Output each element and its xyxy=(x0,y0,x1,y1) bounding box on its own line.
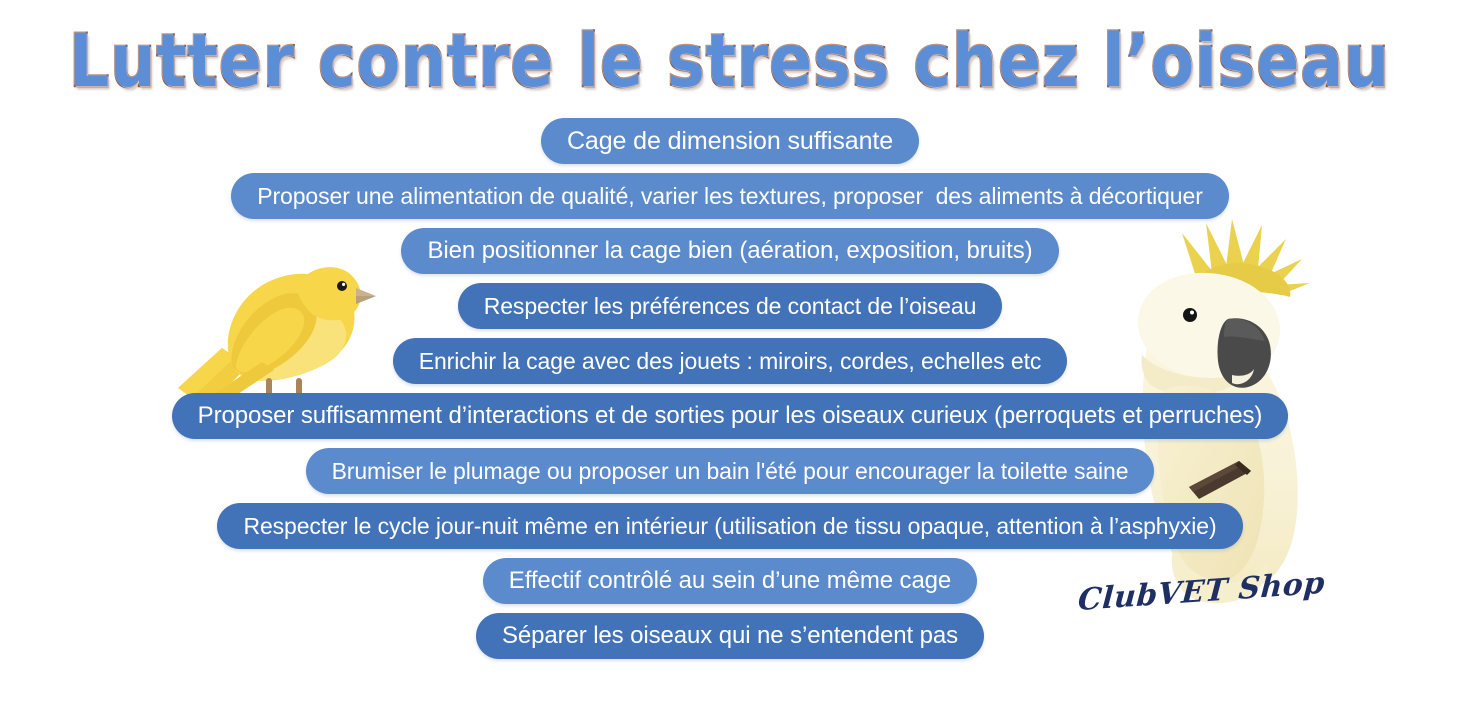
tip-label: Cage de dimension suffisante xyxy=(567,129,893,154)
tip-label: Proposer suffisamment d’interactions et … xyxy=(198,404,1263,428)
tip-pill-group-size[interactable]: Effectif contrôlé au sein d’une même cag… xyxy=(483,558,977,604)
tip-pill-separate-birds[interactable]: Séparer les oiseaux qui ne s’entendent p… xyxy=(476,613,984,659)
tip-pill-cage-enrichment[interactable]: Enrichir la cage avec des jouets : miroi… xyxy=(393,338,1068,384)
tip-label: Bien positionner la cage bien (aération,… xyxy=(427,239,1032,263)
tip-pill-day-night-cycle[interactable]: Respecter le cycle jour-nuit même en int… xyxy=(217,503,1242,549)
tip-label: Brumiser le plumage ou proposer un bain … xyxy=(332,460,1129,483)
tip-label: Respecter les préférences de contact de … xyxy=(484,295,977,318)
tip-pill-interactions[interactable]: Proposer suffisamment d’interactions et … xyxy=(172,393,1289,439)
tip-pill-cage-placement[interactable]: Bien positionner la cage bien (aération,… xyxy=(401,228,1058,274)
infographic-canvas: Lutter contre le stress chez l’oiseau xyxy=(0,0,1460,712)
page-title: Lutter contre le stress chez l’oiseau xyxy=(69,17,1390,103)
tip-pill-food-quality[interactable]: Proposer une alimentation de qualité, va… xyxy=(231,173,1229,219)
tip-pill-misting-bath[interactable]: Brumiser le plumage ou proposer un bain … xyxy=(306,448,1155,494)
tip-label: Effectif contrôlé au sein d’une même cag… xyxy=(509,569,951,593)
tip-label: Proposer une alimentation de qualité, va… xyxy=(257,185,1203,208)
tip-label: Enrichir la cage avec des jouets : miroi… xyxy=(419,350,1042,373)
title-container: Lutter contre le stress chez l’oiseau xyxy=(0,14,1460,106)
tip-pill-contact-prefs[interactable]: Respecter les préférences de contact de … xyxy=(458,283,1003,329)
tip-label: Respecter le cycle jour-nuit même en int… xyxy=(243,515,1216,538)
tip-label: Séparer les oiseaux qui ne s’entendent p… xyxy=(502,624,958,648)
tip-pill-cage-size[interactable]: Cage de dimension suffisante xyxy=(541,118,919,164)
